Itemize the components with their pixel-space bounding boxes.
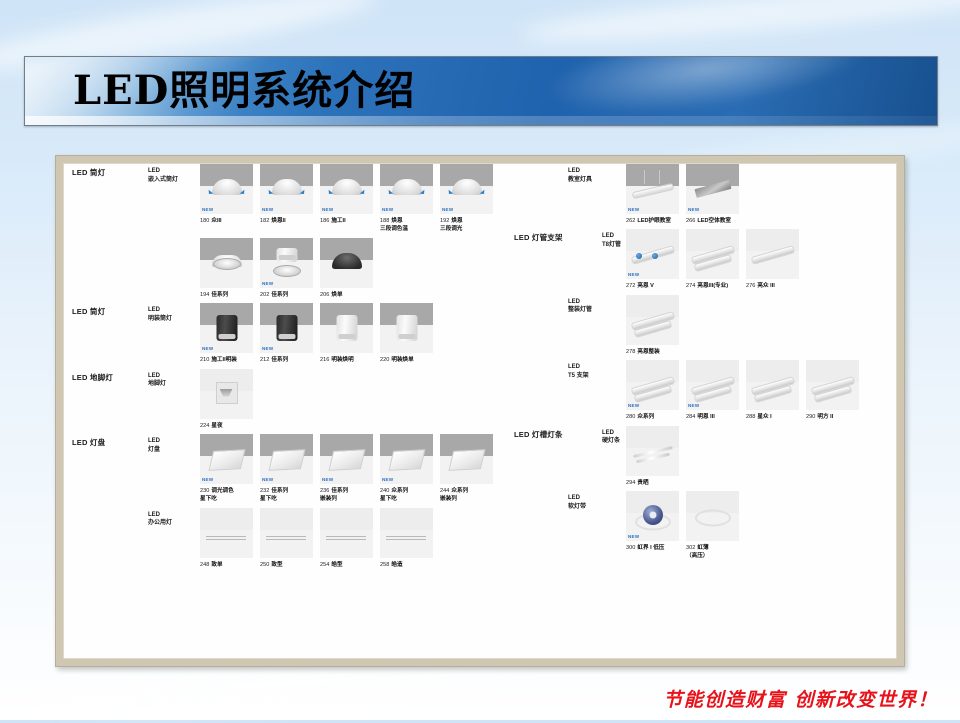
product-number: 250	[260, 562, 269, 568]
group-category-label: LED 灯管支架	[514, 233, 588, 243]
product-item[interactable]: NEW272亮恩 V	[626, 229, 679, 290]
product-number: 300	[626, 545, 635, 551]
product-caption: 284明恩 III	[686, 413, 739, 421]
group-subcategory-label: LED 灯盘	[148, 437, 196, 454]
product-thumbnail: NEW	[626, 360, 679, 410]
product-item[interactable]: NEW284明恩 III	[686, 360, 739, 421]
product-item[interactable]: NEW230调光调色星下吃	[200, 434, 253, 504]
product-item[interactable]: 290明方 II	[806, 360, 859, 421]
product-number: 232	[260, 488, 269, 494]
product-thumbnail	[380, 508, 433, 558]
background-cloud	[519, 0, 960, 53]
product-thumbnail: NEW	[260, 434, 313, 484]
catalog-sheet: LED 筒灯LED 嵌入式筒灯NEW180众IIINEW182焕恩IINEW18…	[63, 163, 897, 659]
product-caption: 206焕单	[320, 291, 373, 299]
product-group: LED 整装灯管278亮恩整装	[496, 295, 896, 356]
product-item[interactable]: 248致单	[200, 508, 253, 569]
product-caption: 232佳系列星下吃	[260, 487, 313, 504]
product-caption: 276亮众 III	[746, 282, 799, 290]
product-group: LED 地脚灯LED 地脚灯224星夜	[64, 369, 494, 430]
product-number: 180	[200, 218, 209, 224]
product-number: 206	[320, 292, 329, 298]
product-item[interactable]: 206焕单	[320, 238, 373, 299]
product-item[interactable]: NEW202佳系列	[260, 238, 313, 299]
product-item[interactable]: NEW212佳系列	[260, 303, 313, 364]
product-item[interactable]: 294贵晒	[626, 426, 679, 487]
product-item-row: NEW300虹界 I 低压302虹薄（高压）	[496, 491, 896, 561]
title-banner: LED照明系统介绍	[24, 56, 938, 126]
product-item[interactable]: 274亮恩III(专业)	[686, 229, 739, 290]
product-item-row: 248致单250致型254皓型258皓造	[64, 508, 494, 569]
group-subcategory-label: LED 地脚灯	[148, 372, 196, 389]
new-badge: NEW	[688, 207, 699, 212]
product-thumbnail	[686, 491, 739, 541]
catalog-left-column: LED 筒灯LED 嵌入式筒灯NEW180众IIINEW182焕恩IINEW18…	[64, 164, 494, 573]
product-caption: 230调光调色星下吃	[200, 487, 253, 504]
product-thumbnail: NEW	[626, 491, 679, 541]
product-item[interactable]: 288星众 I	[746, 360, 799, 421]
product-caption: 274亮恩III(专业)	[686, 282, 739, 290]
product-item[interactable]: NEW188焕恩三段调色温	[380, 164, 433, 234]
product-caption: 210施工II明装	[200, 356, 253, 364]
new-badge: NEW	[262, 207, 273, 212]
product-thumbnail	[626, 426, 679, 476]
product-item[interactable]: NEW280众系列	[626, 360, 679, 421]
product-group: 194佳系列NEW202佳系列206焕单	[64, 238, 494, 299]
product-caption: 236佳系列嵌装列	[320, 487, 373, 504]
new-badge: NEW	[628, 403, 639, 408]
product-caption: 288星众 I	[746, 413, 799, 421]
product-thumbnail: NEW	[686, 164, 739, 214]
product-group: LED 筒灯LED 嵌入式筒灯NEW180众IIINEW182焕恩IINEW18…	[64, 164, 494, 234]
product-number: 248	[200, 562, 209, 568]
product-thumbnail: NEW	[260, 164, 313, 214]
product-number: 236	[320, 488, 329, 494]
new-badge: NEW	[628, 272, 639, 277]
product-caption: 250致型	[260, 561, 313, 569]
product-number: 210	[200, 357, 209, 363]
product-thumbnail	[746, 360, 799, 410]
product-group: LED 软灯带NEW300虹界 I 低压302虹薄（高压）	[496, 491, 896, 561]
product-item[interactable]: 258皓造	[380, 508, 433, 569]
product-caption: 202佳系列	[260, 291, 313, 299]
product-number: 266	[686, 218, 695, 224]
product-number: 216	[320, 357, 329, 363]
catalog-frame: LED 筒灯LED 嵌入式筒灯NEW180众IIINEW182焕恩IINEW18…	[55, 155, 905, 667]
product-item-row: 278亮恩整装	[496, 295, 896, 356]
product-number: 290	[806, 414, 815, 420]
product-thumbnail	[626, 295, 679, 345]
product-number: 280	[626, 414, 635, 420]
product-item[interactable]: 302虹薄（高压）	[686, 491, 739, 561]
product-number: 294	[626, 480, 635, 486]
new-badge: NEW	[628, 534, 639, 539]
slogan-text: 节能创造财富 创新改变世界！	[663, 685, 938, 712]
product-thumbnail	[686, 229, 739, 279]
product-group: LED 办公用灯248致单250致型254皓型258皓造	[64, 508, 494, 569]
product-number: 212	[260, 357, 269, 363]
product-thumbnail: NEW	[200, 164, 253, 214]
product-item[interactable]: 276亮众 III	[746, 229, 799, 290]
group-subcategory-label: LED 软灯带	[568, 494, 616, 511]
product-number: 302	[686, 545, 695, 551]
group-category-label: LED 筒灯	[72, 168, 146, 178]
product-item[interactable]: 254皓型	[320, 508, 373, 569]
product-thumbnail: NEW	[440, 164, 493, 214]
product-caption: 216明装焕明	[320, 356, 373, 364]
product-number: 244	[440, 488, 449, 494]
group-category-label: LED 灯盘	[72, 438, 146, 448]
product-caption: 188焕恩三段调色温	[380, 217, 433, 234]
product-item[interactable]: NEW262LED护眼教室	[626, 164, 679, 225]
product-caption: 220明装焕单	[380, 356, 433, 364]
product-caption: 290明方 II	[806, 413, 859, 421]
product-caption: 194佳系列	[200, 291, 253, 299]
product-thumbnail	[380, 303, 433, 353]
product-thumbnail	[200, 369, 253, 419]
new-badge: NEW	[442, 207, 453, 212]
product-caption: 224星夜	[200, 422, 253, 430]
product-number: 188	[380, 218, 389, 224]
product-number: 186	[320, 218, 329, 224]
new-badge: NEW	[322, 477, 333, 482]
product-thumbnail: NEW	[380, 434, 433, 484]
product-caption: 302虹薄（高压）	[686, 544, 739, 561]
product-number: 194	[200, 292, 209, 298]
product-thumbnail	[200, 238, 253, 288]
product-thumbnail	[200, 508, 253, 558]
product-caption: 248致单	[200, 561, 253, 569]
product-number: 230	[200, 488, 209, 494]
product-thumbnail	[320, 508, 373, 558]
new-badge: NEW	[382, 477, 393, 482]
product-item-row: NEW262LED护眼教室NEW266LED空体教室	[496, 164, 896, 225]
product-item[interactable]: 244众系列嵌装列	[440, 434, 493, 504]
product-caption: 262LED护眼教室	[626, 217, 679, 225]
group-subcategory-label: LED 教室灯具	[568, 167, 616, 184]
group-category-label: LED 地脚灯	[72, 373, 146, 383]
new-badge: NEW	[262, 346, 273, 351]
new-badge: NEW	[262, 477, 273, 482]
new-badge: NEW	[202, 346, 213, 351]
product-number: 276	[746, 283, 755, 289]
product-item[interactable]: 220明装焕单	[380, 303, 433, 364]
product-item[interactable]: NEW240众系列星下吃	[380, 434, 433, 504]
page-title: LED照明系统介绍	[25, 57, 937, 125]
product-item-row: 194佳系列NEW202佳系列206焕单	[64, 238, 494, 299]
product-number: 220	[380, 357, 389, 363]
product-item[interactable]: 216明装焕明	[320, 303, 373, 364]
product-caption: 192焕恩三段调光	[440, 217, 493, 234]
product-caption: 272亮恩 V	[626, 282, 679, 290]
product-caption: 280众系列	[626, 413, 679, 421]
product-caption: 266LED空体教室	[686, 217, 739, 225]
product-group: LED T5 支架NEW280众系列NEW284明恩 III288星众 I290…	[496, 360, 896, 421]
product-thumbnail	[260, 508, 313, 558]
product-caption: 182焕恩II	[260, 217, 313, 225]
product-number: 262	[626, 218, 635, 224]
group-subcategory-label: LED T5 支架	[568, 363, 616, 380]
new-badge: NEW	[262, 281, 273, 286]
group-subcategory-label: LED 明装筒灯	[148, 306, 196, 323]
product-number: 258	[380, 562, 389, 568]
product-item[interactable]: 194佳系列	[200, 238, 253, 299]
product-thumbnail: NEW	[626, 229, 679, 279]
new-badge: NEW	[202, 207, 213, 212]
product-number: 274	[686, 283, 695, 289]
group-subcategory-label: LED 嵌入式筒灯	[148, 167, 196, 184]
product-item[interactable]: 278亮恩整装	[626, 295, 679, 356]
product-thumbnail	[806, 360, 859, 410]
new-badge: NEW	[202, 477, 213, 482]
product-caption: 240众系列星下吃	[380, 487, 433, 504]
product-number: 288	[746, 414, 755, 420]
product-item[interactable]: NEW210施工II明装	[200, 303, 253, 364]
product-thumbnail: NEW	[320, 164, 373, 214]
product-group: LED 教室灯具NEW262LED护眼教室NEW266LED空体教室	[496, 164, 896, 225]
group-subcategory-label: LED 整装灯管	[568, 298, 616, 315]
product-caption: 294贵晒	[626, 479, 679, 487]
product-group: LED 灯盘LED 灯盘NEW230调光调色星下吃NEW232佳系列星下吃NEW…	[64, 434, 494, 504]
group-category-label: LED 灯槽灯条	[514, 430, 588, 440]
product-thumbnail: NEW	[626, 164, 679, 214]
new-badge: NEW	[382, 207, 393, 212]
product-item[interactable]: NEW186施工II	[320, 164, 373, 225]
product-group: LED 灯槽灯条LED 硬灯条294贵晒	[496, 426, 896, 487]
product-number: 224	[200, 423, 209, 429]
product-thumbnail: NEW	[260, 303, 313, 353]
product-caption: 180众III	[200, 217, 253, 225]
product-item[interactable]: NEW236佳系列嵌装列	[320, 434, 373, 504]
product-item[interactable]: NEW266LED空体教室	[686, 164, 739, 225]
product-caption: 186施工II	[320, 217, 373, 225]
product-thumbnail: NEW	[380, 164, 433, 214]
product-number: 240	[380, 488, 389, 494]
product-caption: 254皓型	[320, 561, 373, 569]
product-item[interactable]: NEW182焕恩II	[260, 164, 313, 225]
catalog-right-column: LED 教室灯具NEW262LED护眼教室NEW266LED空体教室LED 灯管…	[496, 164, 896, 565]
group-subcategory-label: LED 办公用灯	[148, 511, 196, 528]
product-caption: 212佳系列	[260, 356, 313, 364]
product-item[interactable]: NEW192焕恩三段调光	[440, 164, 493, 234]
product-item-row: NEW280众系列NEW284明恩 III288星众 I290明方 II	[496, 360, 896, 421]
new-badge: NEW	[628, 207, 639, 212]
product-item[interactable]: NEW232佳系列星下吃	[260, 434, 313, 504]
product-caption: 300虹界 I 低压	[626, 544, 679, 552]
product-caption: 244众系列嵌装列	[440, 487, 493, 504]
product-group: LED 灯管支架LED T8灯管NEW272亮恩 V274亮恩III(专业)27…	[496, 229, 896, 290]
product-thumbnail: NEW	[200, 434, 253, 484]
group-category-label: LED 筒灯	[72, 307, 146, 317]
product-number: 192	[440, 218, 449, 224]
product-number: 272	[626, 283, 635, 289]
new-badge: NEW	[322, 207, 333, 212]
product-caption: 278亮恩整装	[626, 348, 679, 356]
product-thumbnail: NEW	[320, 434, 373, 484]
product-item[interactable]: NEW180众III	[200, 164, 253, 225]
product-group: LED 筒灯LED 明装筒灯NEW210施工II明装NEW212佳系列216明装…	[64, 303, 494, 364]
product-thumbnail	[746, 229, 799, 279]
product-thumbnail	[440, 434, 493, 484]
product-caption: 258皓造	[380, 561, 433, 569]
product-thumbnail: NEW	[260, 238, 313, 288]
product-number: 182	[260, 218, 269, 224]
product-number: 202	[260, 292, 269, 298]
product-thumbnail	[320, 238, 373, 288]
product-thumbnail: NEW	[200, 303, 253, 353]
product-thumbnail	[320, 303, 373, 353]
product-item[interactable]: NEW300虹界 I 低压	[626, 491, 679, 552]
product-thumbnail: NEW	[686, 360, 739, 410]
new-badge: NEW	[688, 403, 699, 408]
product-number: 284	[686, 414, 695, 420]
product-number: 254	[320, 562, 329, 568]
product-item[interactable]: 250致型	[260, 508, 313, 569]
product-number: 278	[626, 349, 635, 355]
product-item[interactable]: 224星夜	[200, 369, 253, 430]
